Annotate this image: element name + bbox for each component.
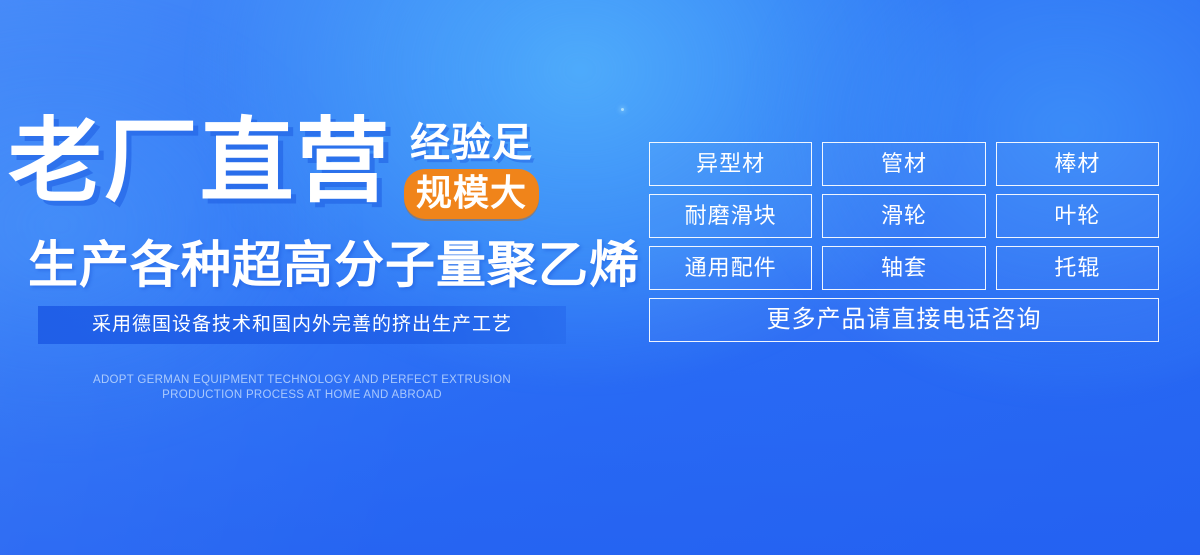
product-cell-label: 滑轮 [881, 203, 927, 229]
product-cell-label: 耐磨滑块 [685, 203, 777, 229]
subtitle-english: ADOPT GERMAN EQUIPMENT TECHNOLOGY AND PE… [38, 373, 566, 403]
product-cell-label: 叶轮 [1054, 203, 1100, 229]
subtitle-english-line-1: ADOPT GERMAN EQUIPMENT TECHNOLOGY AND PE… [38, 373, 566, 388]
product-cell-rod[interactable]: 棒材 [996, 142, 1159, 186]
tagline-band: 采用德国设备技术和国内外完善的挤出生产工艺 [38, 306, 566, 344]
headline-block: 老厂直营 经验足 规模大 生产各种超高分子量聚乙烯 采用德国设备技术和国内外完善… [0, 0, 620, 555]
product-row-3: 通用配件 轴套 托辊 [649, 246, 1159, 290]
more-products-contact-label: 更多产品请直接电话咨询 [767, 307, 1042, 333]
subtitle-chinese: 生产各种超高分子量聚乙烯 [28, 236, 640, 294]
product-cell-idler-roller[interactable]: 托辊 [996, 246, 1159, 290]
product-cell-label: 异型材 [696, 151, 765, 177]
product-category-grid: 异型材 管材 棒材 耐磨滑块 滑轮 叶轮 通用配件 [649, 142, 1159, 342]
badge-stack: 经验足 规模大 [404, 120, 539, 219]
headline-row: 老厂直营 经验足 规模大 [8, 112, 539, 219]
tagline-band-text: 采用德国设备技术和国内外完善的挤出生产工艺 [92, 314, 512, 336]
product-cell-pulley[interactable]: 滑轮 [822, 194, 985, 238]
product-cell-label: 轴套 [881, 255, 927, 281]
badge-experience: 经验足 [404, 120, 539, 166]
product-cell-label: 棒材 [1054, 151, 1100, 177]
product-cell-impeller[interactable]: 叶轮 [996, 194, 1159, 238]
product-cell-label: 通用配件 [685, 255, 777, 281]
product-row-1: 异型材 管材 棒材 [649, 142, 1159, 186]
product-cell-profile[interactable]: 异型材 [649, 142, 812, 186]
subtitle-english-line-2: PRODUCTION PROCESS AT HOME AND ABROAD [38, 388, 566, 403]
product-cell-label: 托辊 [1054, 255, 1100, 281]
product-cell-bushing[interactable]: 轴套 [822, 246, 985, 290]
product-cell-wear-resistant-slider[interactable]: 耐磨滑块 [649, 194, 812, 238]
product-cell-general-parts[interactable]: 通用配件 [649, 246, 812, 290]
more-products-contact-button[interactable]: 更多产品请直接电话咨询 [649, 298, 1159, 342]
promo-banner: 老厂直营 经验足 规模大 生产各种超高分子量聚乙烯 采用德国设备技术和国内外完善… [0, 0, 1200, 555]
badge-scale: 规模大 [404, 169, 539, 219]
product-row-2: 耐磨滑块 滑轮 叶轮 [649, 194, 1159, 238]
headline-main: 老厂直营 [8, 112, 392, 212]
sparkle-dot [621, 108, 624, 111]
product-cell-label: 管材 [881, 151, 927, 177]
product-cell-pipe[interactable]: 管材 [822, 142, 985, 186]
